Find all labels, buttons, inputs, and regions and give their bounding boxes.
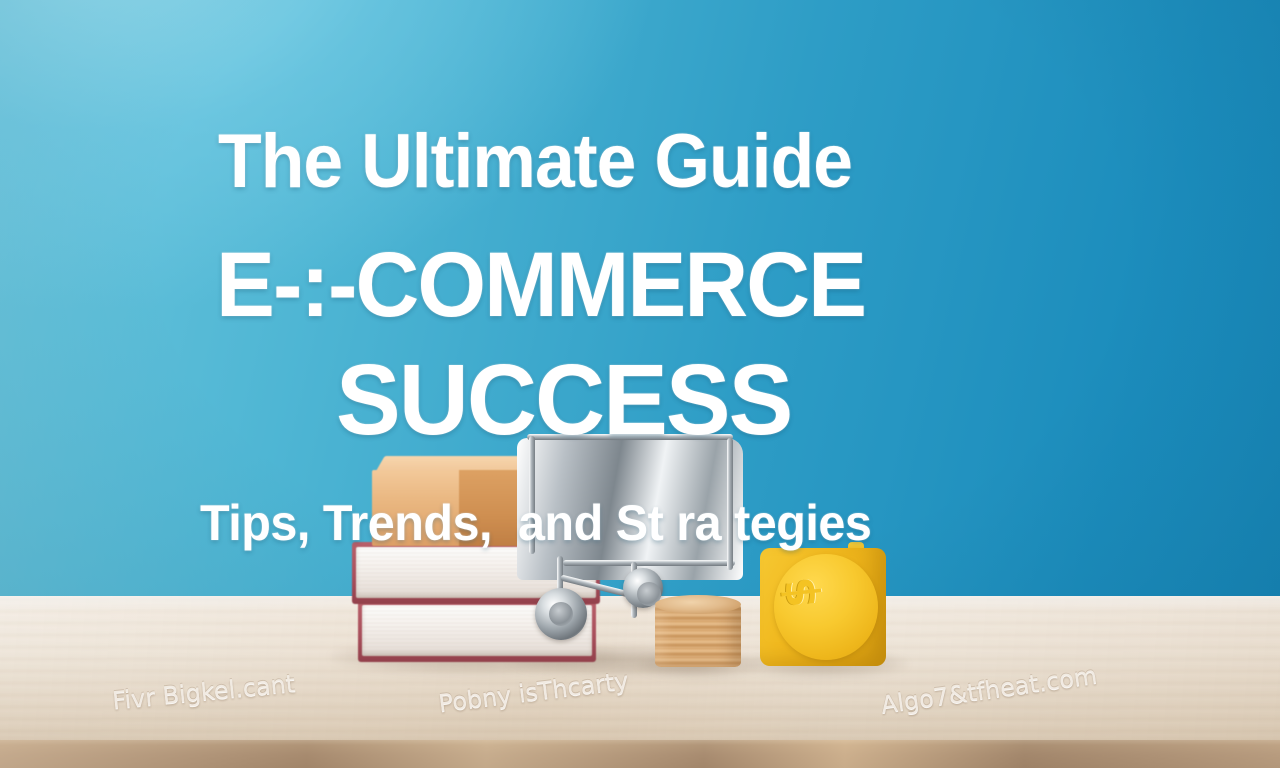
headline-line-3: SUCCESS [336,348,791,452]
coin-stack [655,595,741,671]
headline-line-1: The Ultimate Guide [218,122,852,202]
table-front-edge [0,740,1280,768]
headline-block: The Ultimate Guide E-:-COMMERCE SUCCESS … [0,0,1280,606]
ecommerce-guide-poster: $ The Ultimate Guide E-:-COMMERCE SUCCES… [0,0,1280,768]
headline-line-2: E-:-COMMERCE [216,238,865,332]
headline-subtitle: Tips, Trends, and St ra tegies [200,496,871,550]
